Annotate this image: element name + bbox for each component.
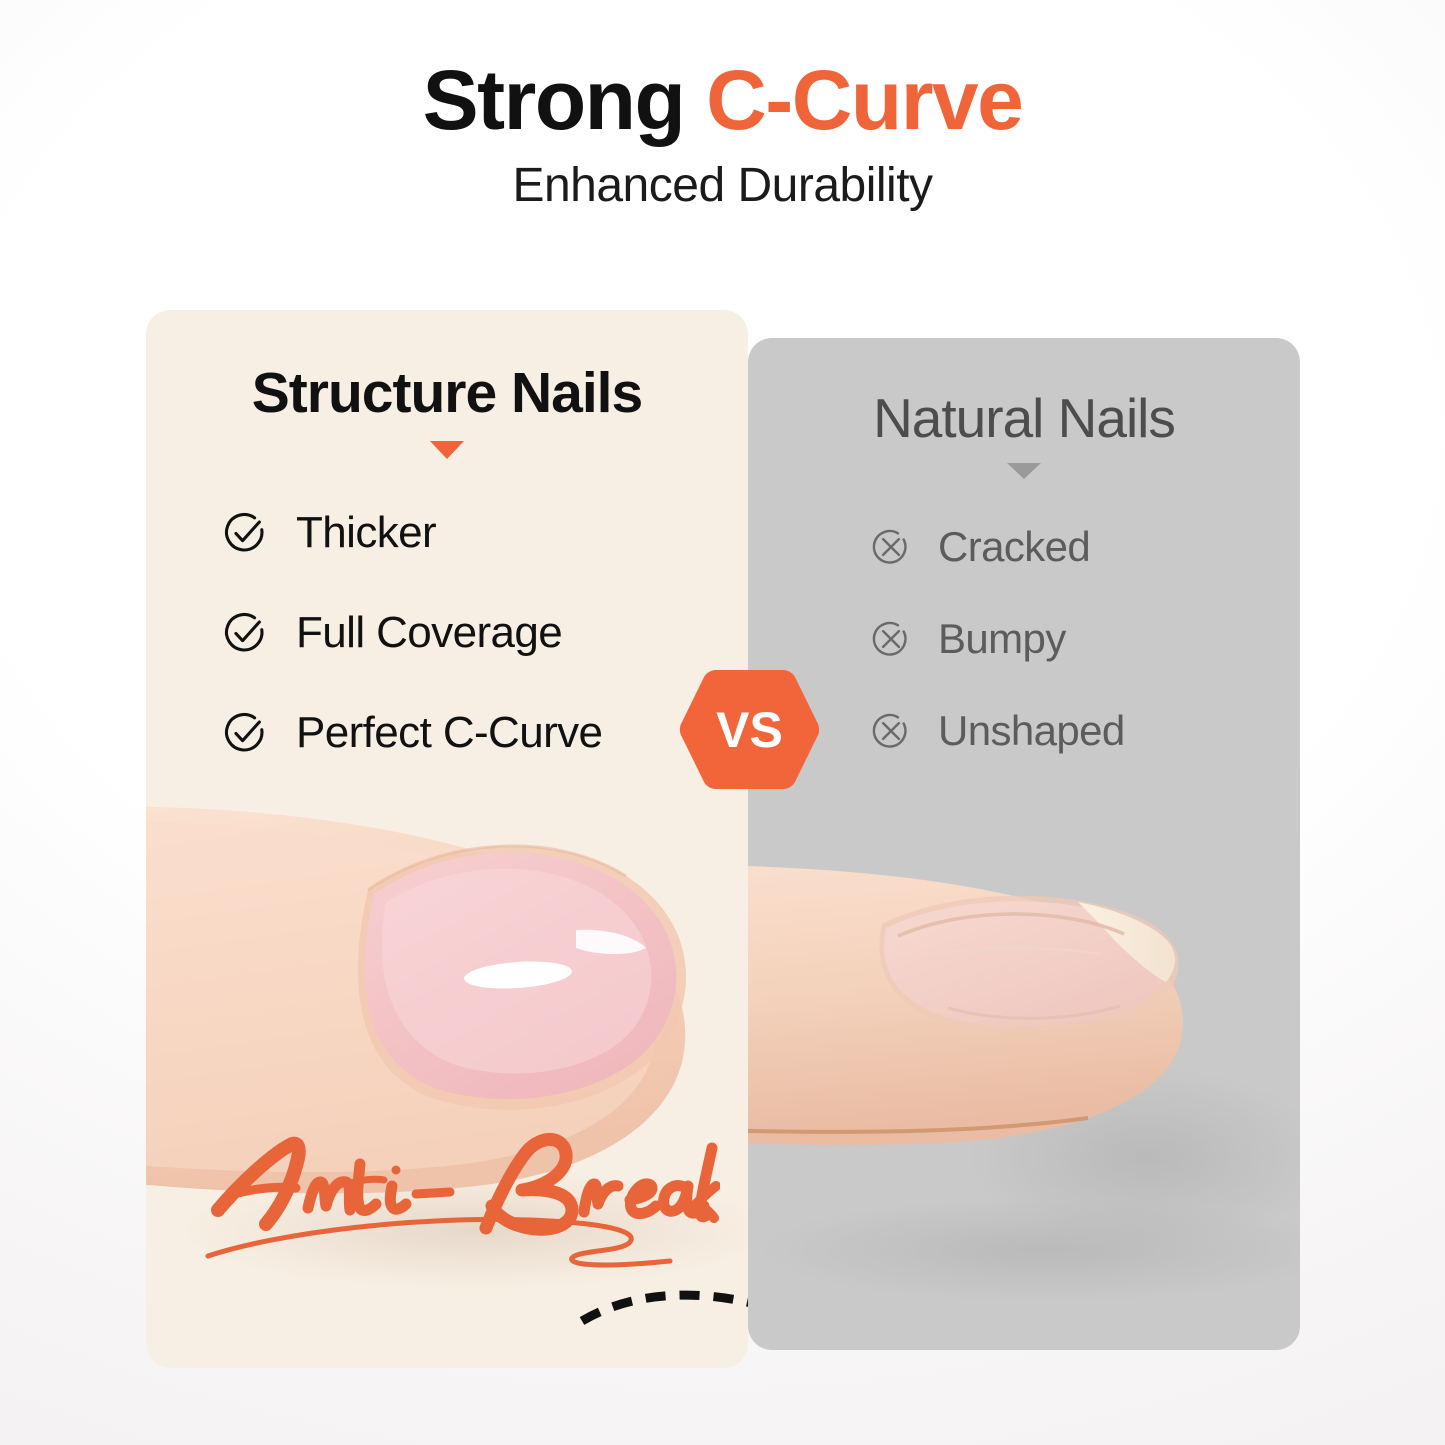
natural-panel-header: Natural Nails [748, 388, 1300, 479]
c-curve-dashed-arc [576, 1275, 748, 1360]
drawback-label: Bumpy [938, 618, 1066, 660]
structure-panel-header: Structure Nails [146, 362, 748, 459]
triangle-down-icon [1007, 463, 1041, 479]
anti-break-script-badge [200, 1128, 720, 1278]
feature-label: Full Coverage [296, 611, 562, 655]
structure-panel-title: Structure Nails [146, 362, 748, 425]
check-circle-icon [222, 510, 268, 556]
feature-label: Perfect C-Curve [296, 711, 602, 755]
x-circle-icon [870, 618, 912, 660]
structure-nails-panel: Structure Nails Thicker Full Coverage [146, 310, 748, 1368]
vs-badge: VS [676, 664, 823, 795]
infographic-canvas: Strong C-Curve Enhanced Durability Struc… [0, 0, 1445, 1445]
structure-feature-list: Thicker Full Coverage Perfect C-Curve [222, 510, 602, 810]
list-item: Bumpy [870, 618, 1125, 660]
natural-drawback-list: Cracked Bumpy Unshaped [870, 526, 1125, 802]
title-accent-text: C-Curve [706, 53, 1022, 147]
check-circle-icon [222, 610, 268, 656]
vs-label: VS [676, 664, 823, 795]
header: Strong C-Curve Enhanced Durability [0, 56, 1445, 213]
list-item: Full Coverage [222, 610, 602, 656]
drawback-label: Cracked [938, 526, 1090, 568]
list-item: Thicker [222, 510, 602, 556]
drawback-label: Unshaped [938, 710, 1125, 752]
x-circle-icon [870, 526, 912, 568]
check-circle-icon [222, 710, 268, 756]
list-item: Perfect C-Curve [222, 710, 602, 756]
list-item: Cracked [870, 526, 1125, 568]
triangle-down-icon [430, 441, 464, 459]
list-item: Unshaped [870, 710, 1125, 752]
feature-label: Thicker [296, 511, 436, 555]
page-title: Strong C-Curve [0, 56, 1445, 144]
natural-nails-panel: Natural Nails Cracked Bumpy [748, 338, 1300, 1350]
x-circle-icon [870, 710, 912, 752]
natural-panel-title: Natural Nails [748, 388, 1300, 449]
natural-nail-photo [748, 858, 1300, 1350]
title-primary-text: Strong [423, 53, 706, 147]
page-subtitle: Enhanced Durability [0, 160, 1445, 213]
